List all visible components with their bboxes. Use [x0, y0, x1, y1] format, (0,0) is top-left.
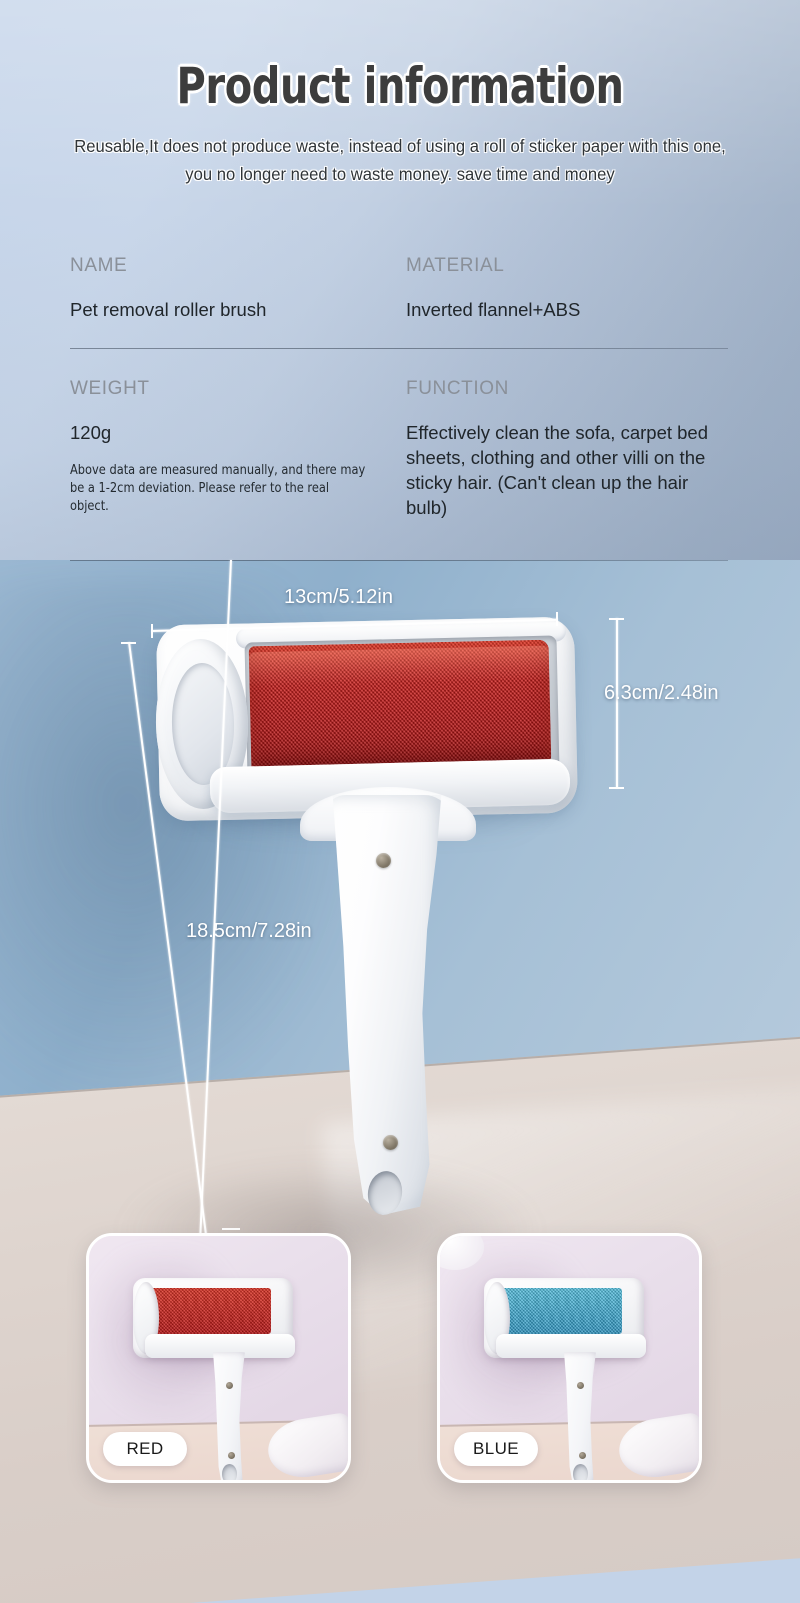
leader-line-cap: [222, 1228, 240, 1230]
spec-cell-function: FUNCTION Effectively clean the sofa, car…: [406, 378, 726, 520]
dimension-cap-width-left: [151, 624, 153, 638]
card-hanging-hole-red: [222, 1464, 237, 1483]
spec-label-function: FUNCTION: [406, 378, 726, 400]
product-information-page: Product information Reusable,It does not…: [0, 0, 800, 1603]
dimension-label-height: 6.3cm/2.48in: [604, 682, 719, 705]
card-roller-fabric-red: [151, 1288, 271, 1334]
spec-cell-material: MATERIAL Inverted flannel+ABS: [406, 255, 726, 322]
page-subtitle: Reusable,It does not produce waste, inst…: [68, 132, 733, 188]
spec-value-weight: 120g: [70, 420, 390, 445]
spec-cell-name: NAME Pet removal roller brush: [70, 255, 390, 322]
variant-card-blue[interactable]: BLUE: [437, 1233, 702, 1483]
card-screw-top-blue: [577, 1382, 584, 1389]
color-variant-cards: RED BLUE: [0, 1233, 800, 1495]
spec-divider-2: [70, 560, 728, 561]
handle-screw-top: [376, 853, 391, 868]
spec-label-material: MATERIAL: [406, 255, 726, 277]
variant-card-red[interactable]: RED: [86, 1233, 351, 1483]
spec-value-function: Effectively clean the sofa, carpet bed s…: [406, 420, 726, 520]
handle-screw-bottom: [383, 1135, 398, 1150]
variant-label-red: RED: [103, 1432, 187, 1466]
roller-fabric-red: [249, 640, 552, 773]
hero-product-lint-roller: [150, 615, 590, 1315]
page-title: Product information: [80, 57, 720, 115]
dimension-cap-height-bottom: [609, 787, 624, 789]
dimension-label-total-height: 18.5cm/7.28in: [186, 920, 312, 943]
dimension-cap-total-top: [121, 642, 136, 644]
spec-label-weight: WEIGHT: [70, 378, 390, 400]
variant-label-blue: BLUE: [454, 1432, 538, 1466]
card-screw-bottom-red: [228, 1452, 235, 1459]
card-screw-bottom-blue: [579, 1452, 586, 1459]
dimension-label-width: 13cm/5.12in: [284, 586, 393, 609]
spec-divider-1: [70, 348, 728, 349]
card-screw-top-red: [226, 1382, 233, 1389]
card-hanging-hole-blue: [573, 1464, 588, 1483]
spec-cell-weight: WEIGHT 120g Above data are measured manu…: [70, 378, 390, 515]
spec-value-name: Pet removal roller brush: [70, 297, 390, 322]
spec-label-name: NAME: [70, 255, 390, 277]
dimension-cap-height-top: [609, 618, 624, 620]
dimension-cap-width-right: [556, 612, 558, 626]
measurement-note: Above data are measured manually, and th…: [70, 461, 371, 515]
spec-value-material: Inverted flannel+ABS: [406, 297, 726, 322]
roller-highlight: [249, 646, 550, 687]
card-roller-fabric-blue: [502, 1288, 622, 1334]
